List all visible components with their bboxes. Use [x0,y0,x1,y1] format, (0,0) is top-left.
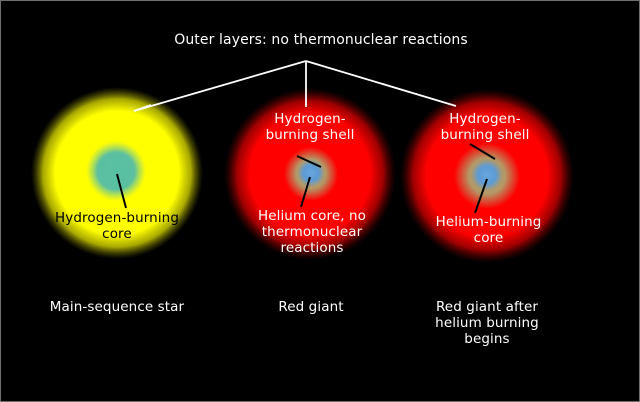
caption-main-sequence-star: Main-sequence star [27,299,207,315]
label-red-giant-helium-core: Helium-burning core [416,214,561,246]
caption-red-giant: Red giant [231,299,391,315]
diagram-canvas: Outer layers: no thermonuclear reactions… [0,0,640,402]
caption-red-giant-after-helium-burning: Red giant after helium burning begins [406,299,568,347]
diagram-title: Outer layers: no thermonuclear reactions [1,32,640,48]
label-red-giant-core: Helium core, no thermonuclear reactions [241,208,383,256]
label-main-sequence-core: Hydrogen-burning core [37,210,197,242]
label-red-giant-shell: Hydrogen- burning shell [246,111,374,143]
label-red-giant-helium-shell: Hydrogen- burning shell [421,111,549,143]
core-red-giant-helium-burning [471,159,503,191]
core-main-sequence [86,141,146,201]
